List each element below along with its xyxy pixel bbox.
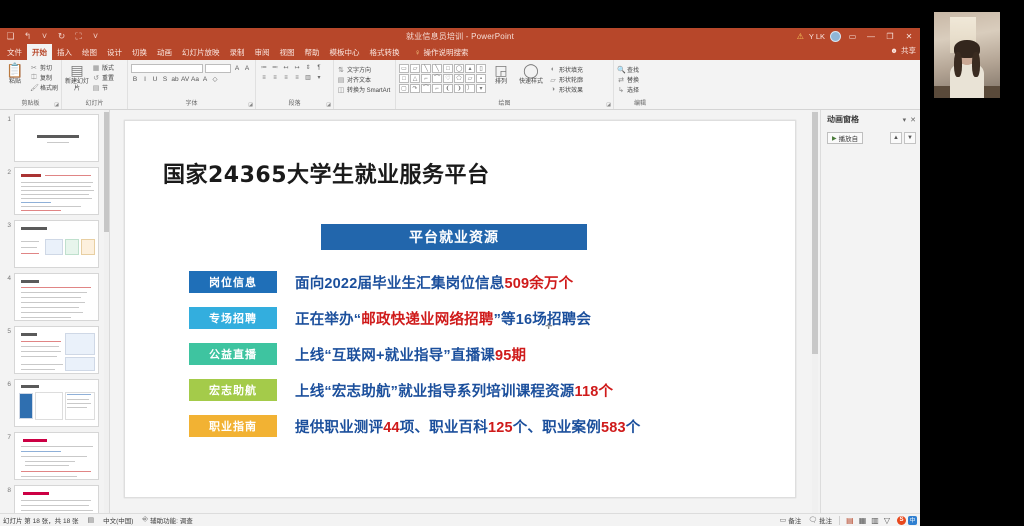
slideshow-view-button[interactable]: ▽ — [884, 516, 890, 525]
warning-icon[interactable]: ⚠ — [797, 32, 804, 41]
format-painter-button[interactable]: 🖌 格式刷 — [30, 83, 58, 92]
tab-design[interactable]: 设计 — [102, 44, 127, 60]
avatar[interactable] — [830, 31, 841, 42]
shape-fill-icon: ◐ — [549, 66, 557, 73]
change-case-button[interactable]: Aa — [191, 75, 199, 84]
clipboard-dialog-launcher[interactable]: ◪ — [54, 102, 59, 108]
normal-view-button[interactable]: ▤ — [846, 516, 854, 525]
tab-transitions[interactable]: 切换 — [127, 44, 152, 60]
decrease-indent-icon[interactable]: ↤ — [281, 64, 291, 73]
person-icon: ☻ — [890, 46, 898, 55]
line-spacing-icon[interactable]: ⇕ — [303, 64, 313, 73]
badge-career-guide[interactable]: 职业指南 — [189, 415, 277, 437]
animation-pane-title: 动画窗格 — [827, 114, 859, 125]
align-center-icon[interactable]: ≡ — [270, 74, 280, 83]
text-direction-label: 文字方向 — [347, 65, 371, 74]
tab-review[interactable]: 审阅 — [250, 44, 275, 60]
shape-outline-label: 形状轮廓 — [559, 75, 583, 84]
shape-square[interactable]: □ — [443, 64, 453, 73]
thumbnail-number: 3 — [2, 220, 14, 229]
spellcheck-icon[interactable]: ▤ — [88, 516, 95, 524]
paragraph-dialog-launcher[interactable]: ◪ — [326, 102, 331, 108]
bullets-icon[interactable]: ≔ — [259, 64, 269, 73]
thumbnail-preview[interactable] — [14, 485, 99, 513]
arrange-icon: ◲ — [494, 63, 507, 78]
row-segment: 提供职业测评 — [295, 420, 383, 436]
slide-title[interactable]: 国家24365大学生就业服务平台 — [163, 157, 490, 189]
participant-video-feed[interactable] — [934, 12, 1000, 98]
thumbnail-preview[interactable] — [14, 326, 99, 374]
content-row[interactable]: 职业指南 提供职业测评44项、职业百科125个、职业案例583个 — [189, 415, 789, 437]
row-segment-highlight: 125 — [488, 420, 513, 436]
comments-label: 批注 — [819, 515, 832, 525]
top-black-bar — [0, 0, 920, 28]
slide-counter[interactable]: 幻灯片 第 18 张，共 18 张 — [3, 515, 79, 525]
shape-freeform[interactable]: ⌐ — [432, 84, 442, 93]
shape-paren[interactable]: ） — [465, 84, 475, 93]
thumbnail-scrollbar[interactable] — [104, 110, 109, 513]
tab-help[interactable]: 帮助 — [300, 44, 325, 60]
row-segment: 上线“互联网+就业指导”直播课 — [295, 348, 495, 364]
reading-view-button[interactable]: ▥ — [871, 516, 879, 525]
ribbon-group-slides: ▤ 新建幻灯片 ▦ 版式 ↺ 重置 ▤ — [62, 60, 128, 109]
row-segment-highlight: 邮政快递业网络招聘 — [361, 312, 493, 328]
ribbon-group-font: A A B I U S ab AV Aa A ◇ — [128, 60, 256, 109]
font-size-combobox[interactable] — [205, 64, 231, 73]
badge-special-recruitment[interactable]: 专场招聘 — [189, 307, 277, 329]
thumbnail-item[interactable]: 4 — [0, 273, 109, 321]
row-text-hongzhi-program: 上线“宏志助航”就业指导系列培训课程资源118个 — [295, 380, 613, 401]
align-right-icon[interactable]: ≡ — [281, 74, 291, 83]
justify-icon[interactable]: ≡ — [292, 74, 302, 83]
shape-rectangle[interactable]: ▭ — [399, 64, 409, 73]
tab-template-center[interactable]: 模板中心 — [325, 44, 365, 60]
powerpoint-window: ❏ ↰ ˅ ↻ ⛶ ˅ 就业信息员培训 - PowerPoint ⚠ Y LK … — [0, 28, 920, 526]
row-text-public-livestream: 上线“互联网+就业指导”直播课95期 — [295, 344, 526, 365]
slide-area-scrollbar[interactable] — [812, 110, 818, 513]
thumbnail-preview[interactable] — [14, 220, 99, 268]
workspace: 1 2 — [0, 110, 920, 513]
font-name-combobox[interactable] — [131, 64, 203, 73]
text-direction-icon: ⇅ — [337, 66, 345, 74]
shape-effects-button[interactable]: ◑ 形状效果 — [549, 85, 583, 94]
thumbnail-number: 7 — [2, 432, 14, 441]
slide-banner-label: 平台就业资源 — [409, 227, 499, 247]
paste-button[interactable]: 📋 粘贴 — [3, 62, 27, 86]
shape-arc[interactable]: ↷ — [410, 84, 420, 93]
row-segment: ”等16场招聘会 — [494, 312, 591, 328]
ribbon-group-paragraph: ≔ ≕ ↤ ↦ ⇕ ¶ ≡ ≡ ≡ ≡ ▥ ▾ 段落 ◪ — [256, 60, 334, 109]
content-row[interactable]: 岗位信息 面向2022届毕业生汇集岗位信息509余万个 — [189, 271, 789, 293]
group-label-clipboard: 剪贴板 — [3, 100, 58, 109]
tell-me-search[interactable]: ♀ 操作说明搜索 — [405, 44, 469, 60]
shape-arrow-line[interactable]: ╲ — [432, 64, 442, 73]
thumbnail-item[interactable]: 5 — [0, 326, 109, 374]
slide-content-rows: 岗位信息 面向2022届毕业生汇集岗位信息509余万个 专场招聘 正在举办“邮政… — [189, 271, 789, 451]
row-segment-highlight: 118个 — [575, 384, 614, 400]
section-button[interactable]: ▤ 节 — [92, 83, 114, 92]
slide-thumbnail-pane[interactable]: 1 2 — [0, 110, 110, 513]
accessibility-label: 辅助功能: 调查 — [150, 515, 193, 525]
content-row[interactable]: 公益直播 上线“互联网+就业指导”直播课95期 — [189, 343, 789, 365]
notes-icon: ▭ — [780, 516, 787, 524]
ribbon-group-clipboard: 📋 粘贴 ✂ 剪切 ⎅ 复制 🖌 — [0, 60, 62, 109]
paintbrush-icon: 🖌 — [30, 84, 38, 92]
smartart-icon: ◫ — [337, 86, 345, 94]
close-icon[interactable]: ✕ — [910, 116, 916, 124]
share-label: 共享 — [901, 45, 916, 56]
underline-button[interactable]: U — [151, 75, 159, 84]
new-slide-button[interactable]: ▤ 新建幻灯片 — [65, 62, 89, 93]
bold-button[interactable]: B — [131, 75, 139, 84]
row-segment-highlight: 509余万个 — [504, 276, 573, 292]
cut-button[interactable]: ✂ 剪切 — [30, 63, 58, 72]
shape-fill-label: 形状填充 — [559, 65, 583, 74]
badge-hongzhi-program[interactable]: 宏志助航 — [189, 379, 277, 401]
status-bar-right: ▭ 备注 🗨 批注 ▤ ▦ ▥ ▽ S 中 — [780, 515, 917, 525]
shape-triangle[interactable]: △ — [410, 74, 420, 83]
select-label: 选择 — [627, 85, 639, 94]
columns-icon[interactable]: ▥ — [303, 74, 313, 83]
thumbnail-preview[interactable] — [14, 379, 99, 427]
ribbon-display-options-icon[interactable]: ▭ — [846, 32, 859, 41]
shape-gallery[interactable]: ▭ ▱ ╲ ╲ □ ◯ ▴ ▯ □ △ ⌐ ⌒ ♡ ⬠ ▱ — [399, 62, 486, 93]
shape-heart[interactable]: ♡ — [443, 74, 453, 83]
animation-pane-header: 动画窗格 ▾ ✕ — [827, 114, 916, 125]
find-label: 查找 — [627, 65, 639, 74]
row-segment-highlight: 583 — [601, 420, 626, 436]
tab-record[interactable]: 录制 — [225, 44, 250, 60]
shape-rect3[interactable]: ▢ — [399, 84, 409, 93]
thumbnail-number: 8 — [2, 485, 14, 494]
shape-fill-button[interactable]: ◐ 形状填充 — [549, 65, 583, 74]
format-painter-label: 格式刷 — [40, 83, 58, 92]
shape-curve[interactable]: ⌒ — [432, 74, 442, 83]
font-dialog-launcher[interactable]: ◪ — [248, 102, 253, 108]
thumbnail-preview[interactable] — [14, 273, 99, 321]
slide-banner[interactable]: 平台就业资源 — [321, 224, 587, 250]
notes-label: 备注 — [788, 515, 801, 525]
video-person-hair-left — [954, 52, 962, 78]
strikethrough-button[interactable]: ab — [171, 75, 179, 84]
group-label-drawing: 绘图 — [399, 100, 610, 109]
new-slide-icon: ▤ — [70, 63, 83, 78]
thumbnail-number: 6 — [2, 379, 14, 388]
layout-button[interactable]: ▦ 版式 — [92, 63, 114, 72]
align-left-icon[interactable]: ≡ — [259, 74, 269, 83]
play-from-label: 播放自 — [839, 133, 859, 143]
row-segment: 面向2022届毕业生汇集岗位信息 — [295, 276, 504, 292]
ribbon-body: 📋 粘贴 ✂ 剪切 ⎅ 复制 🖌 — [0, 60, 920, 110]
select-icon: ↳ — [617, 86, 625, 94]
quick-styles-icon: ◯ — [523, 63, 539, 78]
reset-icon: ↺ — [92, 74, 100, 82]
align-text-label: 对齐文本 — [347, 75, 371, 84]
section-label: 节 — [102, 83, 108, 92]
section-icon: ▤ — [92, 84, 100, 92]
thumbnail-item[interactable]: 1 — [0, 114, 109, 162]
close-button[interactable]: ✕ — [902, 32, 916, 41]
align-text-button[interactable]: ▤ 对齐文本 — [337, 75, 390, 84]
move-down-icon[interactable]: ▼ — [904, 132, 916, 144]
video-person-hair-right — [972, 52, 980, 78]
badge-public-livestream[interactable]: 公益直播 — [189, 343, 277, 365]
ime-indicator[interactable]: S 中 — [897, 516, 917, 525]
shape-more-bottom[interactable]: ▾ — [476, 84, 486, 93]
shape-scroll[interactable]: ▱ — [465, 74, 475, 83]
animation-pane-body: ▶ 播放自 ▲ ▼ — [827, 132, 916, 144]
slide-sorter-view-button[interactable]: ▦ — [859, 516, 867, 525]
italic-button[interactable]: I — [141, 75, 149, 84]
copy-label: 复制 — [40, 73, 52, 82]
thumbnail-item[interactable]: 3 — [0, 220, 109, 268]
right-black-strip — [920, 110, 1024, 526]
tab-file[interactable]: 文件 — [2, 44, 27, 60]
font-color-button[interactable]: A — [201, 75, 209, 84]
copy-button[interactable]: ⎅ 复制 — [30, 73, 58, 82]
customize-qat-icon[interactable]: ˅ — [90, 31, 101, 42]
animation-reorder-controls: ▲ ▼ — [890, 132, 916, 144]
redo-icon[interactable]: ↻ — [56, 31, 67, 42]
thumbnail-item[interactable]: 2 — [0, 167, 109, 215]
start-slideshow-icon[interactable]: ⛶ — [73, 31, 84, 42]
row-segment: 上线“宏志助航”就业指导系列培训课程资源 — [295, 384, 575, 400]
row-segment-highlight: 44 — [383, 420, 400, 436]
cut-label: 剪切 — [40, 63, 52, 72]
shape-more-top[interactable]: ▴ — [465, 64, 475, 73]
thumbnail-number: 4 — [2, 273, 14, 282]
row-segment-highlight: 95期 — [495, 348, 526, 364]
move-up-icon[interactable]: ▲ — [890, 132, 902, 144]
drawing-dialog-launcher[interactable]: ◪ — [606, 102, 611, 108]
row-segment: 个、职业案例 — [513, 420, 601, 436]
layout-icon: ▦ — [92, 64, 100, 72]
paste-icon: 📋 — [6, 63, 23, 78]
animation-pane: 动画窗格 ▾ ✕ ▶ 播放自 ▲ ▼ — [820, 110, 920, 513]
ribbon-group-text-options: ⇅ 文字方向 ▤ 对齐文本 ◫ 转换为 SmartArt — [334, 60, 396, 109]
character-spacing-button[interactable]: AV — [181, 75, 189, 84]
tab-slideshow[interactable]: 幻灯片放映 — [177, 44, 225, 60]
decrease-font-size-icon[interactable]: A — [243, 64, 251, 73]
paragraph-mark-icon[interactable]: ¶ — [314, 64, 324, 73]
thumbnail-scrollbar-thumb[interactable] — [104, 112, 109, 232]
thumbnail-item[interactable]: 6 — [0, 379, 109, 427]
replace-button[interactable]: ⇄ 替换 — [617, 75, 639, 84]
undo-dropdown-icon[interactable]: ˅ — [39, 31, 50, 42]
tab-animations[interactable]: 动画 — [152, 44, 177, 60]
align-text-icon: ▤ — [337, 76, 345, 84]
select-button[interactable]: ↳ 选择 — [617, 85, 639, 94]
increase-font-size-icon[interactable]: A — [233, 64, 241, 73]
shape-outline-icon: ▱ — [549, 76, 557, 84]
current-slide[interactable]: 国家24365大学生就业服务平台 平台就业资源 岗位信息 面向2022届毕业生汇… — [124, 120, 796, 498]
thumbnail-preview[interactable] — [14, 432, 99, 480]
group-label-paragraph: 段落 — [259, 100, 330, 109]
shape-row1-extra[interactable]: ▯ — [476, 64, 486, 73]
window-title: 就业信息员培训 - PowerPoint — [0, 31, 920, 42]
title-bar: ❏ ↰ ˅ ↻ ⛶ ˅ 就业信息员培训 - PowerPoint ⚠ Y LK … — [0, 28, 920, 44]
ribbon-tab-strip: 文件 开始 插入 绘图 设计 切换 动画 幻灯片放映 录制 审阅 视图 帮助 模… — [0, 44, 920, 60]
scissors-icon: ✂ — [30, 64, 38, 72]
slide-area-scrollbar-thumb[interactable] — [812, 112, 818, 354]
arrange-label: 排列 — [495, 79, 507, 86]
tab-home[interactable]: 开始 — [27, 44, 52, 60]
group-label-editing: 编辑 — [617, 100, 663, 109]
search-icon: 🔍 — [617, 66, 625, 74]
numbering-icon[interactable]: ≕ — [270, 64, 280, 73]
shape-oval[interactable]: ◯ — [454, 64, 464, 73]
shape-brace-left[interactable]: ❨ — [443, 84, 453, 93]
comment-icon: 🗨 — [808, 516, 817, 524]
shape-elbow[interactable]: ⌐ — [421, 74, 431, 83]
status-bar: 幻灯片 第 18 张，共 18 张 ▤ 中文(中国) ⎆ 辅助功能: 调查 ▭ … — [0, 513, 920, 526]
text-direction-button[interactable]: ⇅ 文字方向 — [337, 65, 390, 74]
group-label-slides: 幻灯片 — [65, 100, 124, 109]
convert-smartart-label: 转换为 SmartArt — [347, 85, 390, 94]
group-label-text-options — [337, 100, 392, 109]
shape-effects-label: 形状效果 — [559, 85, 583, 94]
shape-more-mid[interactable]: ▪ — [476, 74, 486, 83]
row-text-special-recruitment: 正在举办“邮政快递业网络招聘”等16场招聘会 — [295, 308, 591, 329]
group-label-font: 字体 — [131, 100, 252, 109]
ime-mode-icon[interactable]: 中 — [908, 516, 917, 525]
shape-rounded-rect[interactable]: ▱ — [410, 64, 420, 73]
ribbon-group-drawing: ▭ ▱ ╲ ╲ □ ◯ ▴ ▯ □ △ ⌐ ⌒ ♡ ⬠ ▱ — [396, 60, 614, 109]
shape-outline-button[interactable]: ▱ 形状轮廓 — [549, 75, 583, 84]
play-icon: ▶ — [832, 135, 837, 142]
sogou-ime-icon[interactable]: S — [897, 516, 906, 525]
slide-editing-area: 国家24365大学生就业服务平台 平台就业资源 岗位信息 面向2022届毕业生汇… — [110, 110, 820, 513]
thumbnail-preview[interactable] — [14, 167, 99, 215]
tab-draw[interactable]: 绘图 — [77, 44, 102, 60]
quick-styles-button[interactable]: ◯ 快速样式 — [516, 62, 546, 86]
thumbnail-number: 2 — [2, 167, 14, 176]
badge-job-info[interactable]: 岗位信息 — [189, 271, 277, 293]
tell-me-label: 操作说明搜索 — [424, 47, 469, 58]
user-name[interactable]: Y LK — [809, 32, 825, 41]
shape-effects-icon: ◑ — [549, 86, 557, 93]
paste-label: 粘贴 — [9, 79, 21, 86]
row-text-career-guide: 提供职业测评44项、职业百科125个、职业案例583个 — [295, 416, 640, 437]
view-buttons: ▤ ▦ ▥ ▽ — [839, 516, 890, 525]
shadow-button[interactable]: S — [161, 75, 169, 84]
tab-view[interactable]: 视图 — [275, 44, 300, 60]
screen-root: ❏ ↰ ˅ ↻ ⛶ ˅ 就业信息员培训 - PowerPoint ⚠ Y LK … — [0, 0, 1024, 526]
shape-line[interactable]: ╲ — [421, 64, 431, 73]
find-button[interactable]: 🔍 查找 — [617, 65, 639, 74]
animation-pane-controls: ▾ ✕ — [903, 116, 916, 124]
lightbulb-icon: ♀ — [415, 48, 421, 57]
thumbnail-item[interactable]: 7 — [0, 432, 109, 480]
shape-curve2[interactable]: ⌒ — [421, 84, 431, 93]
shape-rect2[interactable]: □ — [399, 74, 409, 83]
tab-format-convert[interactable]: 格式转换 — [365, 44, 405, 60]
comments-button[interactable]: 🗨 批注 — [808, 515, 832, 525]
thumbnail-number: 1 — [2, 114, 14, 123]
convert-smartart-button[interactable]: ◫ 转换为 SmartArt — [337, 85, 390, 94]
accessibility-icon: ⎆ — [142, 516, 148, 524]
language-indicator[interactable]: 中文(中国) — [103, 515, 133, 525]
layout-label: 版式 — [102, 63, 114, 72]
title-bar-right: ⚠ Y LK ▭ — ❐ ✕ — [797, 28, 920, 44]
shape-pentagon[interactable]: ⬠ — [454, 74, 464, 83]
arrange-button[interactable]: ◲ 排列 — [489, 62, 513, 86]
thumbnail-number: 5 — [2, 326, 14, 335]
minimize-button[interactable]: — — [864, 32, 878, 41]
play-from-button[interactable]: ▶ 播放自 — [827, 132, 863, 144]
restore-button[interactable]: ❐ — [883, 32, 897, 41]
participant-video-panel[interactable] — [920, 0, 1024, 110]
row-segment: 项、职业百科 — [400, 420, 488, 436]
quick-access-toolbar: ❏ ↰ ˅ ↻ ⛶ ˅ — [0, 31, 101, 42]
shape-brace-right[interactable]: ❩ — [454, 84, 464, 93]
undo-icon[interactable]: ↰ — [22, 31, 33, 42]
row-text-job-info: 面向2022届毕业生汇集岗位信息509余万个 — [295, 272, 573, 293]
quick-styles-label: 快速样式 — [519, 79, 543, 86]
save-icon[interactable]: ❏ — [5, 31, 16, 42]
reset-label: 重置 — [102, 73, 114, 82]
clear-formatting-button[interactable]: ◇ — [211, 75, 219, 84]
text-direction-more-icon[interactable]: ▾ — [314, 74, 324, 83]
accessibility-status[interactable]: ⎆ 辅助功能: 调查 — [142, 515, 192, 525]
new-slide-label: 新建幻灯片 — [65, 79, 89, 93]
thumbnail-preview[interactable] — [14, 114, 99, 162]
content-row[interactable]: 专场招聘 正在举办“邮政快递业网络招聘”等16场招聘会 — [189, 307, 789, 329]
row-segment: 正在举办“ — [295, 312, 361, 328]
thumbnail-item[interactable]: 8 — [0, 485, 109, 513]
reset-button[interactable]: ↺ 重置 — [92, 73, 114, 82]
replace-label: 替换 — [627, 75, 639, 84]
ribbon-group-editing: 🔍 查找 ⇄ 替换 ↳ 选择 编辑 — [614, 60, 666, 109]
content-row[interactable]: 宏志助航 上线“宏志助航”就业指导系列培训课程资源118个 — [189, 379, 789, 401]
notes-button[interactable]: ▭ 备注 — [780, 515, 802, 525]
chevron-down-icon[interactable]: ▾ — [903, 116, 907, 124]
row-segment: 个 — [626, 420, 641, 436]
copy-icon: ⎅ — [30, 74, 38, 82]
tab-insert[interactable]: 插入 — [52, 44, 77, 60]
increase-indent-icon[interactable]: ↦ — [292, 64, 302, 73]
replace-icon: ⇄ — [617, 76, 625, 84]
share-button[interactable]: ☻ 共享 — [890, 45, 916, 56]
